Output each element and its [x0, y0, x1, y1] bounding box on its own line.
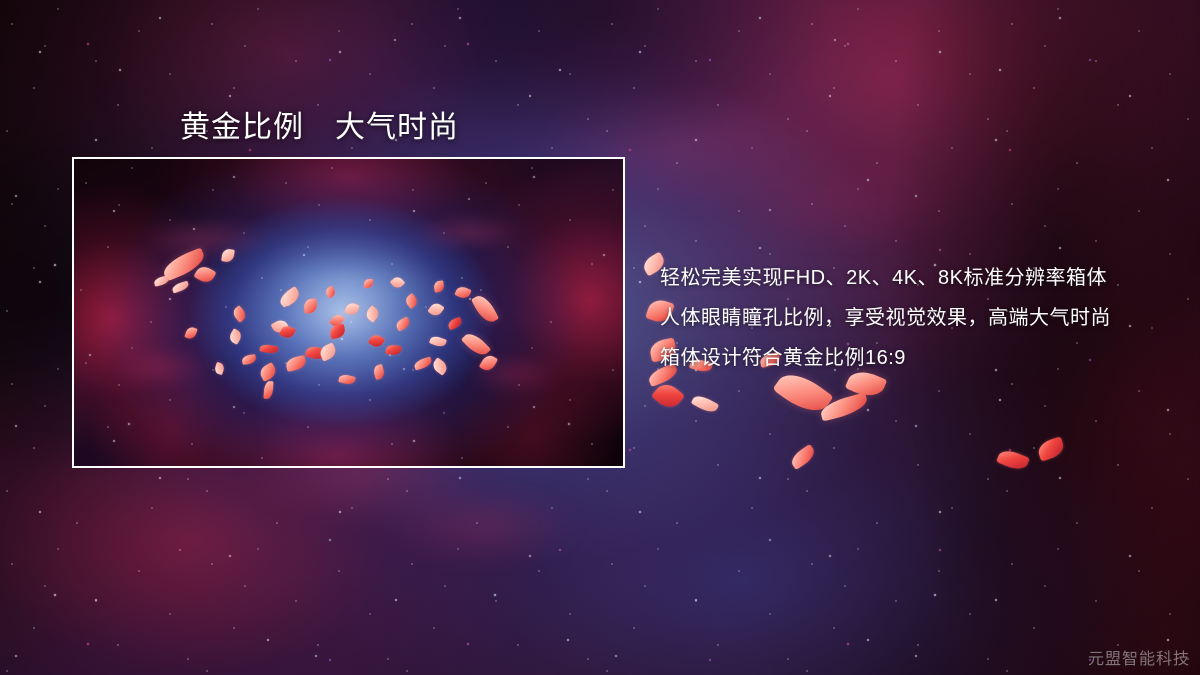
framed-photo	[72, 157, 625, 468]
body-text: 轻松完美实现FHD、2K、4K、8K标准分辨率箱体 人体眼睛瞳孔比例，享受视觉效…	[660, 258, 1111, 378]
presentation-slide: 黄金比例 大气时尚	[0, 0, 1200, 675]
body-line-1: 轻松完美实现FHD、2K、4K、8K标准分辨率箱体	[660, 258, 1111, 298]
watermark: 元盟智能科技	[1088, 645, 1190, 669]
body-line-2: 人体眼睛瞳孔比例，享受视觉效果，高端大气时尚	[660, 298, 1111, 338]
page-title: 黄金比例 大气时尚	[180, 102, 459, 146]
body-line-3: 箱体设计符合黄金比例16:9	[660, 338, 1111, 378]
